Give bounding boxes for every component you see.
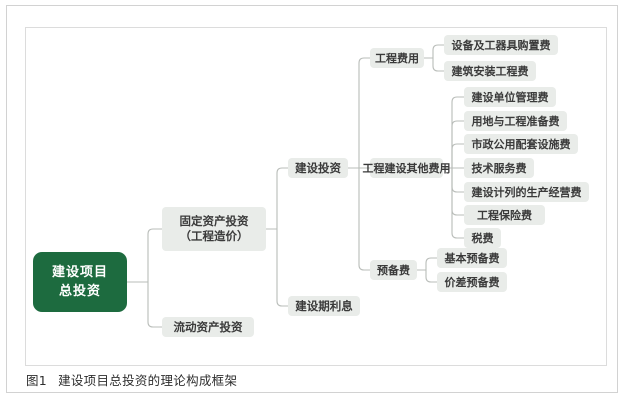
leaf-production-operation-cost[interactable]: 建设计列的生产经营费 bbox=[464, 182, 589, 202]
construction-investment-label: 建设投资 bbox=[295, 161, 341, 176]
connector-to-period-interest bbox=[277, 229, 288, 306]
leaf-owner-management-cost[interactable]: 建设单位管理费 bbox=[464, 87, 556, 107]
root-label: 建设项目 总投资 bbox=[52, 263, 108, 301]
connector-othercost-child-2 bbox=[452, 144, 464, 168]
investment-structure-diagram: 建设项目 总投资 固定资产投资 （工程造价） 流动资产投资 建设投资 建设期利息… bbox=[0, 0, 632, 402]
engineering-cost-label: 工程费用 bbox=[375, 51, 419, 66]
node-construction-investment[interactable]: 建设投资 bbox=[288, 158, 348, 178]
connector-engcost-child-0 bbox=[433, 45, 444, 58]
figure-caption-number: 图1 bbox=[26, 373, 47, 388]
current-asset-label: 流动资产投资 bbox=[174, 320, 243, 335]
leaf-land-and-project-preparation-cost[interactable]: 用地与工程准备费 bbox=[464, 111, 567, 131]
connector-to-engineering-cost bbox=[359, 58, 370, 168]
leaf-label: 建设单位管理费 bbox=[472, 90, 549, 105]
node-construction-period-interest[interactable]: 建设期利息 bbox=[288, 296, 360, 316]
construction-period-interest-label: 建设期利息 bbox=[295, 299, 353, 314]
root-label-line2: 总投资 bbox=[52, 282, 108, 301]
figure-page: 建设项目 总投资 固定资产投资 （工程造价） 流动资产投资 建设投资 建设期利息… bbox=[0, 0, 632, 402]
leaf-label: 建设计列的生产经营费 bbox=[472, 185, 582, 200]
connector-contingency-child-1 bbox=[426, 270, 437, 282]
root-label-line1: 建设项目 bbox=[52, 263, 108, 282]
connector-othercost-child-6 bbox=[452, 168, 464, 238]
leaf-construction-and-installation-cost[interactable]: 建筑安装工程费 bbox=[444, 61, 536, 81]
leaf-technical-service-cost[interactable]: 技术服务费 bbox=[464, 158, 534, 178]
leaf-basic-contingency[interactable]: 基本预备费 bbox=[437, 248, 507, 268]
figure-caption-text: 建设项目总投资的理论构成框架 bbox=[58, 373, 237, 388]
connector-to-fixed-asset bbox=[148, 229, 162, 282]
node-fixed-asset-investment[interactable]: 固定资产投资 （工程造价） bbox=[162, 207, 266, 251]
leaf-municipal-supporting-facilities-cost[interactable]: 市政公用配套设施费 bbox=[464, 134, 578, 154]
leaf-label: 价差预备费 bbox=[445, 275, 500, 290]
contingency-label: 预备费 bbox=[377, 263, 410, 278]
leaf-tax-cost[interactable]: 税费 bbox=[464, 228, 501, 248]
connector-engcost-child-1 bbox=[433, 58, 444, 71]
leaf-label: 税费 bbox=[472, 231, 494, 246]
leaf-label: 用地与工程准备费 bbox=[472, 114, 560, 129]
leaf-label: 技术服务费 bbox=[472, 161, 527, 176]
figure-caption: 图1建设项目总投资的理论构成框架 bbox=[26, 370, 237, 389]
leaf-label: 市政公用配套设施费 bbox=[472, 137, 571, 152]
leaf-equipment-and-tool-purchase-cost[interactable]: 设备及工器具购置费 bbox=[444, 35, 558, 55]
leaf-label: 建筑安装工程费 bbox=[452, 64, 529, 79]
connector-to-current-asset bbox=[148, 282, 162, 327]
other-construction-cost-label: 工程建设其他费用 bbox=[363, 161, 451, 176]
connector-othercost-child-1 bbox=[452, 121, 464, 168]
leaf-label: 基本预备费 bbox=[445, 251, 500, 266]
leaf-engineering-insurance-cost[interactable]: 工程保险费 bbox=[464, 205, 545, 225]
connector-othercost-child-5 bbox=[452, 168, 464, 215]
connector-othercost-child-4 bbox=[452, 168, 464, 192]
node-current-asset-investment[interactable]: 流动资产投资 bbox=[162, 317, 254, 337]
connector-contingency-child-0 bbox=[426, 258, 437, 270]
node-other-construction-cost[interactable]: 工程建设其他费用 bbox=[370, 158, 443, 178]
node-contingency[interactable]: 预备费 bbox=[370, 260, 417, 280]
connector-to-contingency bbox=[359, 168, 370, 270]
connector-othercost-child-0 bbox=[452, 97, 464, 168]
leaf-price-escalation-contingency[interactable]: 价差预备费 bbox=[437, 272, 507, 292]
fixed-asset-label-line2: （工程造价） bbox=[180, 229, 249, 244]
leaf-label: 设备及工器具购置费 bbox=[452, 38, 551, 53]
fixed-asset-label-line1: 固定资产投资 bbox=[180, 214, 249, 229]
node-engineering-cost[interactable]: 工程费用 bbox=[370, 48, 424, 68]
leaf-label: 工程保险费 bbox=[477, 208, 532, 223]
connector-to-construction-investment bbox=[277, 168, 288, 229]
node-root-total-investment[interactable]: 建设项目 总投资 bbox=[33, 252, 127, 312]
